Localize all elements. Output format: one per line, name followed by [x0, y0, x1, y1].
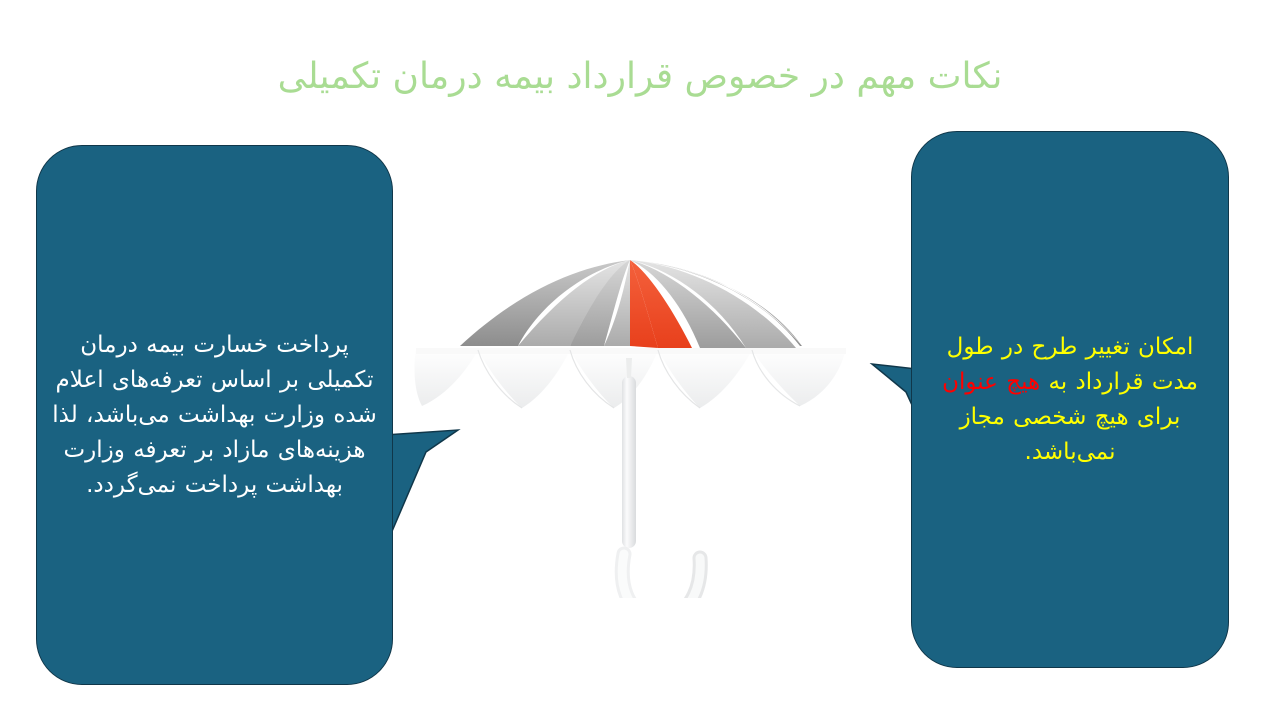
- callout-right-text-after: برای هیچ شخصی مجاز نمی‌باشد.: [960, 404, 1181, 465]
- umbrella-shaft: [622, 376, 636, 548]
- umbrella-icon: [400, 238, 860, 598]
- page-title: نکات مهم در خصوص قرارداد بیمه درمان تکمی…: [0, 52, 1280, 102]
- umbrella-illustration: [400, 238, 860, 598]
- slide-canvas: نکات مهم در خصوص قرارداد بیمه درمان تکمی…: [0, 0, 1280, 720]
- callout-bubble-left[interactable]: پرداخت خسارت بیمه درمان تکمیلی بر اساس ت…: [36, 145, 393, 685]
- callout-left-text: پرداخت خسارت بیمه درمان تکمیلی بر اساس ت…: [37, 328, 392, 503]
- umbrella-handle: [622, 554, 700, 598]
- callout-right-text: امکان تغییر طرح در طول مدت قرارداد به هی…: [912, 330, 1228, 470]
- callout-bubble-right[interactable]: امکان تغییر طرح در طول مدت قرارداد به هی…: [911, 131, 1229, 668]
- callout-right-text-accent: هیچ عنوان: [942, 369, 1040, 395]
- umbrella-canopy-upper: [460, 260, 802, 348]
- umbrella-finial: [626, 358, 632, 378]
